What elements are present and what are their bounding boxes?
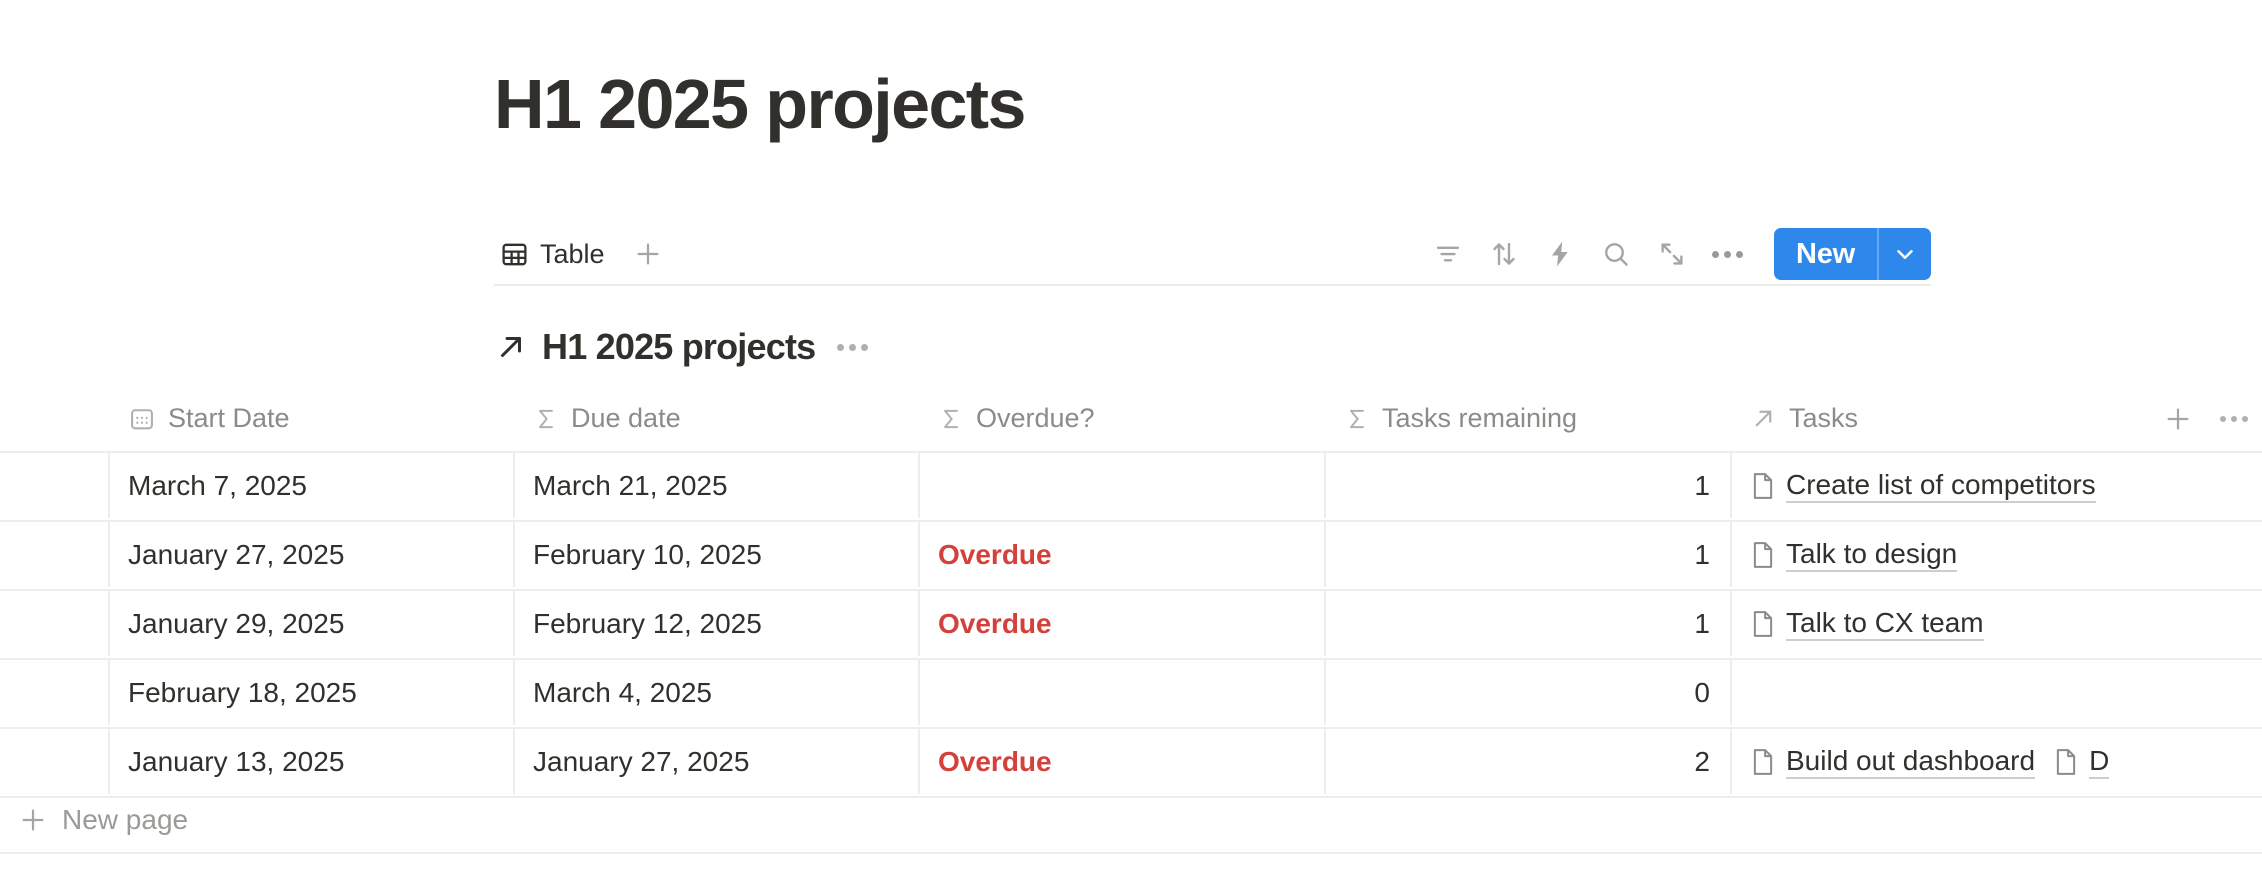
new-button-group: New — [1774, 228, 1931, 280]
formula-icon — [938, 406, 964, 432]
column-header-label: Tasks remaining — [1382, 403, 1577, 434]
notion-database-page: H1 2025 projects Table — [0, 0, 2262, 886]
database-title[interactable]: H1 2025 projects — [542, 326, 815, 368]
page-icon — [1750, 747, 1776, 777]
sort-button[interactable] — [1476, 228, 1532, 280]
cell-start-date[interactable]: January 27, 2025 — [110, 522, 515, 587]
lightning-icon — [1545, 239, 1575, 269]
more-horizontal-icon — [861, 344, 868, 351]
filter-icon — [1433, 239, 1463, 269]
column-header-overdue[interactable]: Overdue? — [920, 386, 1326, 451]
cell-start-date[interactable]: January 13, 2025 — [110, 729, 515, 794]
new-page-label: New page — [62, 804, 188, 836]
cell-tasks-remaining[interactable]: 0 — [1326, 660, 1732, 725]
table-header-actions — [2132, 386, 2262, 451]
task-name: Talk to CX team — [1786, 607, 1984, 641]
cell-truncated[interactable] — [0, 660, 110, 725]
cell-truncated[interactable] — [0, 729, 110, 794]
page-icon — [1750, 609, 1776, 639]
property-options-button[interactable] — [2206, 391, 2262, 447]
cell-due-date[interactable]: February 10, 2025 — [515, 522, 920, 587]
cell-overdue[interactable] — [920, 453, 1326, 518]
column-header-due-date[interactable]: Due date — [515, 386, 920, 451]
more-horizontal-icon — [2220, 416, 2226, 422]
table-row[interactable]: March 7, 2025 March 21, 2025 1 — [0, 451, 2262, 520]
database-menu-button[interactable] — [837, 344, 868, 351]
table-row[interactable]: January 13, 2025 January 27, 2025 Overdu… — [0, 727, 2262, 796]
new-button[interactable]: New — [1774, 228, 1877, 280]
plus-icon — [18, 805, 48, 835]
more-horizontal-icon — [1736, 251, 1743, 258]
view-tabs: Table — [494, 228, 671, 280]
view-toolbar: Table — [494, 228, 1931, 286]
task-name: Talk to design — [1786, 538, 1957, 572]
cell-tasks-remaining[interactable]: 1 — [1326, 591, 1732, 656]
task-link[interactable]: D — [2053, 745, 2109, 779]
formula-icon — [533, 406, 559, 432]
column-header-label: Tasks — [1789, 403, 1858, 434]
cell-tasks[interactable]: Talk to design — [1732, 522, 2262, 587]
expand-button[interactable] — [1644, 228, 1700, 280]
column-header-start-date[interactable]: Start Date — [110, 386, 515, 451]
cell-tasks[interactable]: Create list of competitors — [1732, 453, 2262, 518]
cell-start-date[interactable]: February 18, 2025 — [110, 660, 515, 725]
tab-table[interactable]: Table — [494, 228, 611, 280]
relation-icon — [1750, 405, 1777, 432]
add-view-button[interactable] — [625, 231, 671, 277]
table-row[interactable]: January 27, 2025 February 10, 2025 Overd… — [0, 520, 2262, 589]
more-horizontal-icon — [837, 344, 844, 351]
cell-truncated[interactable] — [0, 591, 110, 656]
column-header-label: Overdue? — [976, 403, 1095, 434]
automation-button[interactable] — [1532, 228, 1588, 280]
column-header-tasks[interactable]: Tasks — [1732, 386, 2132, 451]
task-link[interactable]: Create list of competitors — [1750, 469, 2096, 503]
cell-tasks-remaining[interactable]: 1 — [1326, 522, 1732, 587]
chevron-down-icon — [1892, 241, 1918, 267]
cell-tasks-remaining[interactable]: 2 — [1326, 729, 1732, 794]
filter-button[interactable] — [1420, 228, 1476, 280]
task-link[interactable]: Talk to CX team — [1750, 607, 1984, 641]
more-horizontal-icon — [2231, 416, 2237, 422]
task-name: D — [2089, 745, 2109, 779]
table-icon — [500, 240, 529, 269]
add-property-button[interactable] — [2150, 391, 2206, 447]
task-link[interactable]: Build out dashboard — [1750, 745, 2035, 779]
cell-start-date[interactable]: January 29, 2025 — [110, 591, 515, 656]
column-header-tasks-remaining[interactable]: Tasks remaining — [1326, 386, 1732, 451]
cell-start-date[interactable]: March 7, 2025 — [110, 453, 515, 518]
more-horizontal-icon — [849, 344, 856, 351]
more-horizontal-icon — [1712, 251, 1719, 258]
cell-due-date[interactable]: January 27, 2025 — [515, 729, 920, 794]
table-header-row: Start Date Due date — [0, 386, 2262, 451]
sort-icon — [1489, 239, 1519, 269]
column-header-label: Due date — [571, 403, 681, 434]
tab-table-label: Table — [540, 239, 605, 270]
page-icon — [1750, 471, 1776, 501]
search-icon — [1601, 239, 1631, 269]
cell-truncated[interactable] — [0, 522, 110, 587]
cell-tasks-remaining[interactable]: 1 — [1326, 453, 1732, 518]
page-icon — [2053, 747, 2079, 777]
cell-due-date[interactable]: February 12, 2025 — [515, 591, 920, 656]
page-icon — [1750, 540, 1776, 570]
cell-due-date[interactable]: March 21, 2025 — [515, 453, 920, 518]
cell-tasks[interactable] — [1732, 660, 2262, 725]
database-title-row: H1 2025 projects — [494, 322, 868, 372]
view-more-button[interactable] — [1700, 228, 1756, 280]
task-link[interactable]: Talk to design — [1750, 538, 1957, 572]
cell-overdue[interactable]: Overdue — [920, 729, 1326, 794]
database-table: Start Date Due date — [0, 386, 2262, 826]
search-button[interactable] — [1588, 228, 1644, 280]
cell-tasks[interactable]: Build out dashboard D — [1732, 729, 2262, 794]
cell-overdue[interactable]: Overdue — [920, 591, 1326, 656]
cell-overdue[interactable] — [920, 660, 1326, 725]
cell-overdue[interactable]: Overdue — [920, 522, 1326, 587]
column-header-label: Start Date — [168, 403, 290, 434]
table-body: March 7, 2025 March 21, 2025 1 — [0, 451, 2262, 798]
table-row[interactable]: January 29, 2025 February 12, 2025 Overd… — [0, 589, 2262, 658]
cell-truncated[interactable] — [0, 453, 110, 518]
page-title: H1 2025 projects — [494, 62, 1025, 146]
cell-tasks[interactable]: Talk to CX team — [1732, 591, 2262, 656]
plus-icon — [2163, 404, 2193, 434]
column-header-truncated[interactable] — [0, 386, 110, 451]
new-page-button[interactable]: New page — [0, 788, 2262, 854]
toolbar-actions: New — [1420, 228, 1931, 280]
arrow-up-right-icon — [494, 330, 528, 364]
table-row[interactable]: February 18, 2025 March 4, 2025 0 — [0, 658, 2262, 727]
task-name: Build out dashboard — [1786, 745, 2035, 779]
more-horizontal-icon — [2242, 416, 2248, 422]
task-name: Create list of competitors — [1786, 469, 2096, 503]
calendar-icon — [128, 405, 156, 433]
more-horizontal-icon — [1724, 251, 1731, 258]
formula-icon — [1344, 406, 1370, 432]
cell-due-date[interactable]: March 4, 2025 — [515, 660, 920, 725]
new-dropdown-button[interactable] — [1877, 228, 1931, 280]
expand-icon — [1657, 239, 1687, 269]
